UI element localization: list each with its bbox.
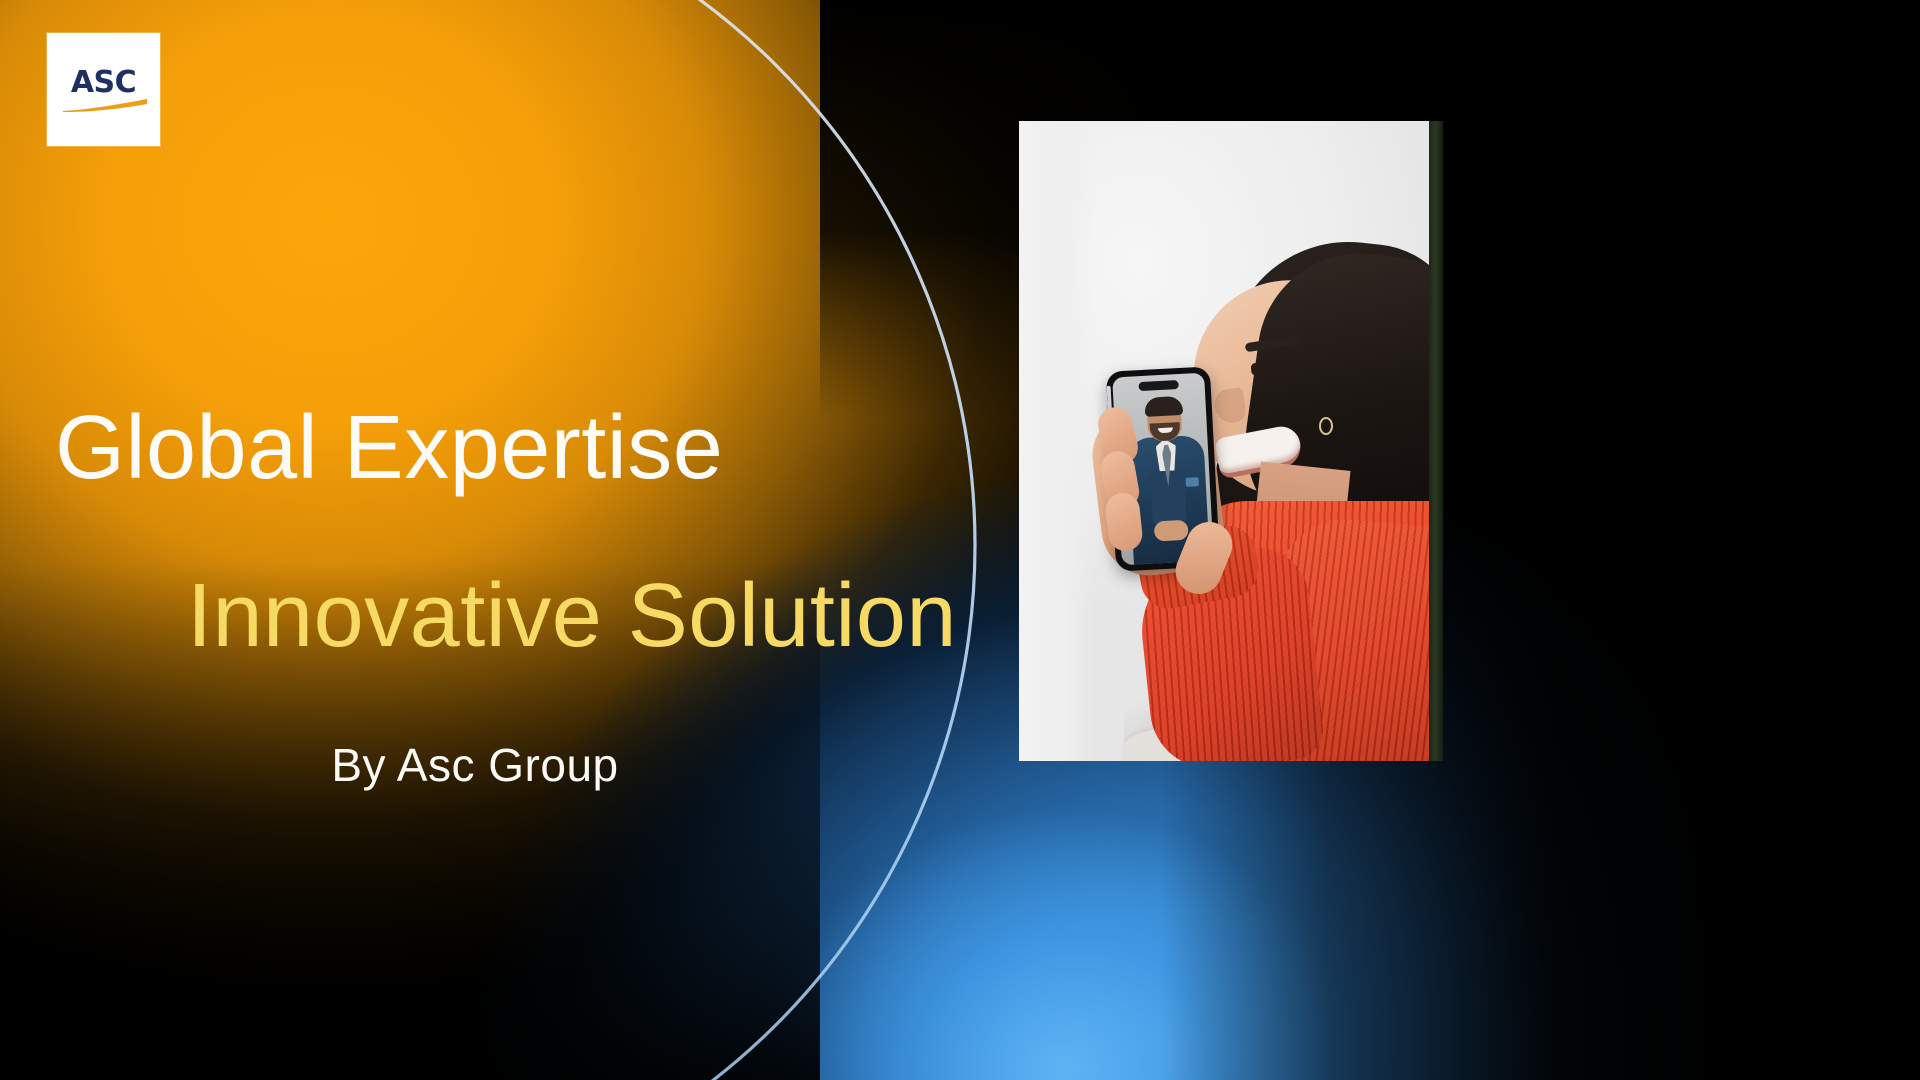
photo-green-edge-strip [1429, 121, 1443, 761]
man-clasped-hands [1154, 520, 1189, 542]
man-hair [1144, 396, 1183, 417]
headline-line-1: Global Expertise [55, 400, 723, 496]
hero-photo [1019, 121, 1443, 761]
phone-notch [1138, 380, 1178, 391]
subtitle-text: By Asc Group [0, 738, 950, 792]
photo-left-fade [1019, 121, 1095, 761]
headline-line-2: Innovative Solution [187, 568, 957, 664]
presentation-slide: ASC Global Expertise Innovative Solution… [0, 0, 1920, 1080]
man-pocket-square [1185, 477, 1198, 487]
woman-earring [1319, 417, 1333, 435]
headline-group: Global Expertise Innovative Solution By … [0, 0, 1000, 1080]
